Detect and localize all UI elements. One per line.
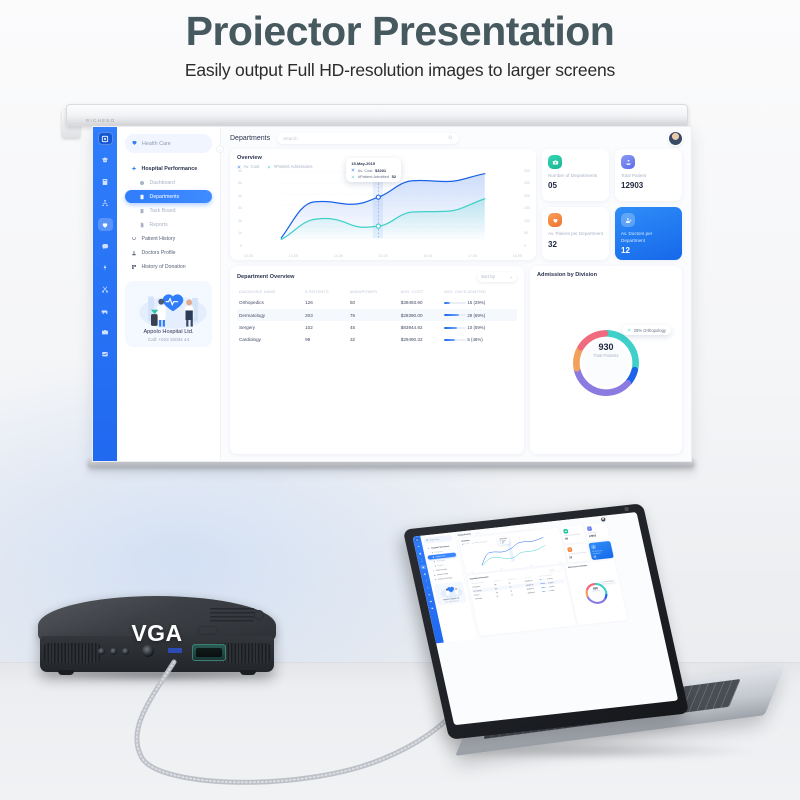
promo-card: Appolo Hospital Ltd. Call: +023 32034 44 (125, 281, 212, 347)
progress-bar (539, 579, 546, 580)
table-row[interactable]: Sergery 102 45 $83944.92 10 (59%) (237, 321, 517, 333)
ambulance-icon[interactable] (426, 592, 432, 597)
search-placeholder: Search (475, 532, 480, 534)
avatar[interactable] (669, 132, 682, 145)
heart-icon (567, 547, 573, 552)
screen-brand-text: RICHENG (86, 118, 116, 123)
admission-by-division-card: Admission by Division (530, 266, 682, 454)
legend-swatch (267, 165, 271, 169)
progress-bar (444, 339, 466, 341)
sidebar-label: Dashboard (150, 180, 175, 186)
stat-card-grid-mirror: Number of Departments 05 Total Patient 1… (561, 523, 614, 563)
donut-svg (581, 580, 612, 608)
department-table: DIAGNOSIS NAME # PATIENTS #MANPOWER AVG.… (237, 286, 517, 346)
sidebar-collapse-button[interactable]: ‹ (216, 145, 224, 153)
sidebar-item-departments[interactable]: Departments (125, 190, 212, 203)
donation-icon (131, 264, 137, 270)
briefcase-icon[interactable] (98, 326, 113, 339)
scissors-icon[interactable] (98, 283, 113, 296)
table-header-bar: Department Overview Sort by ⌄ (237, 272, 517, 282)
stat-label: Number of Departments (548, 173, 603, 179)
cell-patients: 99 (303, 333, 348, 345)
stat-value: 05 (548, 181, 603, 190)
cell-days: 10 (59%) (442, 321, 517, 333)
y-tick: 2k (233, 219, 242, 223)
search-icon[interactable] (448, 135, 453, 141)
plane-icon[interactable] (423, 579, 429, 584)
gauge-icon (139, 180, 145, 186)
page-subtitle: Easily output Full HD-resolution images … (0, 60, 800, 81)
progress-bar (541, 587, 548, 588)
id-card-icon[interactable] (417, 551, 423, 556)
tooltip-series-value: $3201 (375, 168, 386, 173)
projector-foot-left (58, 670, 74, 675)
doctor-icon (433, 574, 435, 576)
stat-label: Total Patient (621, 173, 676, 179)
sidebar-label: Task Board (150, 208, 176, 214)
cell-patients: 126 (303, 297, 348, 309)
days-value: 15 (29%) (467, 300, 485, 305)
avatar[interactable] (601, 517, 606, 522)
progress-bar (444, 302, 466, 304)
graduation-cap-icon[interactable] (416, 544, 422, 549)
overview-chart-card: Overview Av. Cost #Patient Admissions (230, 149, 536, 260)
days-value: 5 (48%) (549, 589, 554, 591)
table-title: Department Overview (237, 274, 295, 280)
doctors-illustration (129, 287, 208, 327)
table-row[interactable]: Orthopedics 126 50 $39493.90 15 (29%) (237, 297, 517, 309)
stat-card-grid: Number of Departments 05 Total Patient 1… (542, 149, 682, 260)
id-card-icon[interactable] (98, 175, 113, 188)
cell-manpower: 32 (348, 333, 399, 345)
x-tick: 12-05 (244, 254, 253, 258)
stat-card-av-patient-per-department[interactable]: Av. Patient per Department 32 (565, 544, 590, 563)
sidebar-label: Task Board (437, 559, 446, 562)
department-overview-card-mirror: Department Overview Sort by ⌄ DIAGNOSIS … (467, 565, 577, 636)
hospital-icon (428, 547, 430, 549)
doctors-illustration (435, 583, 463, 599)
table-header-row: DIAGNOSIS NAME # PATIENTS #MANPOWER AVG.… (237, 286, 517, 297)
cell-manpower: 76 (348, 309, 399, 321)
dashboard-laptop-mirror: Health Care Hospital Performance Dashboa… (412, 515, 631, 643)
days-value: 5 (48%) (467, 337, 482, 342)
x-tick: 14-05 (334, 254, 343, 258)
department-overview-card: Department Overview Sort by ⌄ DIAGNOSIS … (230, 266, 524, 454)
sidebar-item-doctors-profile[interactable]: Doctors Profile (125, 246, 212, 259)
stat-card-total-patient[interactable]: Total Patient 12903 (615, 149, 682, 201)
search-icon[interactable] (528, 526, 530, 528)
clipboard-icon (433, 560, 435, 562)
sidebar-label: Doctors Profile (142, 250, 176, 256)
cell-days: 5 (48%) (442, 333, 517, 345)
app-logo-icon[interactable] (414, 538, 420, 543)
progress-bar (444, 327, 466, 329)
table-row[interactable]: Dermatology 203 76 $28390.00 29 (69%) (237, 309, 517, 321)
tooltip-date: 15-May-2019 (351, 161, 375, 166)
chart-tooltip-mirror: 15-May-2019 $3201 52 (497, 536, 510, 545)
sidebar-item-task-board[interactable]: Task Board (125, 204, 212, 217)
x-tick: 17-05 (468, 254, 477, 258)
donation-icon (434, 578, 436, 580)
stat-value: 12903 (621, 181, 676, 190)
col-avg-cost[interactable]: AVG. COST (399, 286, 442, 297)
y-tick: 0 (233, 244, 242, 248)
sort-by-label: Sort by (481, 274, 495, 279)
brand-chip[interactable]: Health Care (125, 134, 212, 153)
tooltip-row-0: Av. Cost $3201 (351, 168, 396, 173)
power-button[interactable] (254, 610, 264, 620)
cell-name: Cardiology (237, 333, 303, 345)
sidebar-nav: Hospital Performance Dashboard Departmen… (125, 162, 212, 273)
stat-card-av-patient-per-department[interactable]: Av. Patient per Department 32 (542, 207, 609, 259)
donut-center-label: Total Patients (537, 353, 675, 358)
cell-cost: $39493.90 (399, 297, 442, 309)
progress-bar (444, 314, 466, 316)
doctor-badge-icon (591, 545, 597, 550)
stat-value: 12 (621, 246, 676, 255)
y2-tick: 100 (524, 219, 534, 223)
tooltip-row-1: 52 (500, 541, 508, 543)
stat-card-av-doctors-per-department[interactable]: Av. Doctors per Department 12 (588, 541, 613, 560)
sidebar-label: Patient History (142, 236, 176, 242)
briefcase-medical-icon (548, 155, 562, 169)
sidebar-label: Departments (150, 194, 180, 200)
y-tick: 5k (233, 181, 242, 185)
promo-phone: Call: +023 32034 44 (129, 337, 208, 342)
cell-patients: 203 (303, 309, 348, 321)
y-tick: 4k (233, 194, 242, 198)
tooltip-swatch (351, 175, 355, 179)
piggy-bank-icon[interactable] (98, 240, 113, 253)
sidebar-label: History of Donation (142, 264, 186, 270)
stat-label: Av. Patient per Department (548, 231, 603, 237)
stethoscope-icon (131, 236, 137, 242)
cell-cost: $29490.32 (399, 333, 442, 345)
x-tick: 14-05 (500, 568, 503, 570)
headline-block: Proiector Presentation Easily output Ful… (0, 8, 800, 81)
heart-icon (548, 213, 562, 227)
donut-center: 930 Total Patients (537, 342, 675, 358)
chart-icon[interactable] (98, 347, 113, 360)
dashboard-content: Overview Av. Cost #Patient Admissions (221, 149, 691, 461)
heart-pulse-icon (426, 539, 429, 542)
cell-name: Cardiology (474, 595, 496, 601)
progress-bar (542, 590, 549, 591)
cell-manpower: 50 (348, 297, 399, 309)
piggy-bank-icon[interactable] (422, 572, 428, 577)
ambulance-icon[interactable] (98, 304, 113, 317)
clipboard-icon (139, 208, 145, 214)
cell-manpower: 32 (510, 591, 527, 597)
chart-y-axis-right: 300 250 200 150 100 50 0 (524, 169, 534, 248)
chart-tooltip: 15-May-2019 Av. Cost $3201 #Patient Admi… (346, 158, 401, 182)
days-value: 29 (69%) (467, 313, 485, 318)
search-placeholder: Search (283, 136, 298, 141)
sidebar-item-reports[interactable]: Reports (125, 218, 212, 231)
page-title: Proiector Presentation (0, 8, 800, 55)
patient-icon (587, 526, 593, 531)
tooltip-series-name: #Patient Admitted (358, 174, 389, 179)
col-manpower[interactable]: #MANPOWER (348, 286, 399, 297)
main-area: Departments Search Overview (221, 127, 691, 461)
sort-by-label: Sort by (550, 569, 555, 571)
col-avg-days-admited[interactable]: AVG. DAYS ADMITED (442, 286, 517, 297)
y-tick: 1k (233, 231, 242, 235)
sidebar-label: History of Donation (438, 577, 453, 580)
y2-tick: 200 (524, 194, 534, 198)
dashboard-content-mirror: Overview Av. Cost #Patient Admissions (456, 522, 631, 639)
cell-name: Dermatology (237, 309, 303, 321)
donut-tooltip-swatch (627, 328, 631, 332)
chart-x-axis: 12-05 13-05 14-05 15-05 16-05 17-05 18-0… (244, 254, 522, 258)
cell-patients: 99 (495, 593, 511, 598)
x-tick: 12-05 (470, 571, 473, 573)
col-diagnosis-name[interactable]: DIAGNOSIS NAME (237, 286, 303, 297)
tooltip-series-name: Av. Cost (358, 168, 373, 173)
cell-cost: $29490.32 (527, 590, 542, 595)
graduation-cap-icon[interactable] (98, 154, 113, 167)
progress-bar (540, 583, 547, 584)
y-tick: 6k (233, 169, 242, 173)
stat-card-av-doctors-per-department[interactable]: Av. Doctors per Department 12 (615, 207, 682, 259)
icon-rail (93, 127, 117, 461)
tooltip-series-value: 52 (502, 542, 504, 544)
file-icon (434, 565, 436, 567)
search-input[interactable]: Search (277, 133, 459, 144)
laptop-device: Health Care Hospital Performance Dashboa… (404, 500, 784, 770)
laptop-screen: Health Care Hospital Performance Dashboa… (412, 512, 678, 725)
doctor-badge-icon (621, 213, 635, 227)
stat-value: 32 (548, 240, 603, 249)
sidebar-item-dashboard[interactable]: Dashboard (125, 176, 212, 189)
webcam-icon (624, 506, 629, 510)
heart-icon[interactable] (420, 565, 426, 570)
plane-icon[interactable] (98, 261, 113, 274)
stat-card-departments[interactable]: Number of Departments 05 (561, 525, 586, 544)
x-tick: 18-05 (513, 254, 522, 258)
building-icon (139, 194, 145, 200)
stat-label: Av. Doctors per Department (621, 231, 676, 243)
sitemap-icon[interactable] (98, 197, 113, 210)
stat-value: 32 (569, 554, 588, 559)
table-row[interactable]: Cardiology 99 32 $29490.32 5 (48%) (237, 333, 517, 345)
stat-card-departments[interactable]: Number of Departments 05 (542, 149, 609, 201)
stat-card-total-patient[interactable]: Total Patient 12903 (584, 523, 609, 542)
sidebar-item-patient-history[interactable]: Patient History (125, 232, 212, 245)
y2-tick: 50 (524, 231, 534, 235)
brand-chip-label: Health Care (142, 141, 171, 147)
donut-svg (567, 324, 645, 402)
x-tick: 16-05 (423, 254, 432, 258)
days-value: 10 (59%) (467, 325, 485, 330)
donut-tooltip-label: 28% Orthopology (634, 328, 666, 333)
sidebar-label: Hospital Performance (142, 166, 198, 172)
bottom-row: Department Overview Sort by ⌄ DIAGNOSIS … (230, 266, 682, 454)
y2-tick: 250 (524, 181, 534, 185)
audio-jack-left[interactable] (98, 648, 105, 655)
sort-by-dropdown[interactable]: Sort by ⌄ (477, 272, 517, 282)
sitemap-icon[interactable] (419, 558, 425, 563)
video-jack[interactable] (110, 648, 117, 655)
donut-chart: 930 Total Patients 28% Orthopology (537, 278, 675, 448)
scissors-icon[interactable] (425, 585, 431, 590)
chart-icon[interactable] (429, 606, 435, 611)
cell-manpower: 45 (348, 321, 399, 333)
heart-pulse-icon (131, 139, 138, 148)
vga-label: VGA (32, 620, 282, 647)
app-logo-icon[interactable] (98, 132, 113, 145)
main-area-mirror: Departments Search Overview Av. (454, 515, 631, 639)
col-patients[interactable]: # PATIENTS (303, 286, 348, 297)
hospital-icon (131, 166, 137, 172)
heart-icon[interactable] (98, 218, 113, 231)
gauge-icon (431, 552, 433, 554)
projected-screen-surface: Health Care ‹ Hospital Performance Dashb… (92, 126, 692, 462)
cell-days: 29 (69%) (442, 309, 517, 321)
sidebar-item-history-of-donation[interactable]: History of Donation (125, 260, 212, 273)
sidebar-label: Reports (437, 564, 443, 567)
sidebar-item-hospital-performance[interactable]: Hospital Performance (125, 162, 212, 175)
stat-value: 12 (593, 553, 612, 558)
chevron-down-icon: ⌄ (559, 568, 561, 570)
cell-patients: 102 (303, 321, 348, 333)
stethoscope-icon (432, 570, 434, 572)
breadcrumb: Departments (458, 533, 472, 537)
projection-screen-roller (66, 104, 688, 126)
tooltip-swatch (351, 168, 355, 172)
tooltip-row-1: #Patient Admitted 52 (351, 174, 396, 179)
brand-chip-label: Health Care (429, 538, 439, 541)
tooltip-series-value: 52 (392, 174, 396, 179)
usb-port[interactable] (168, 648, 182, 653)
briefcase-icon[interactable] (428, 599, 434, 604)
y2-tick: 150 (524, 206, 534, 210)
stat-value: 05 (565, 536, 584, 541)
patient-icon (621, 155, 635, 169)
sidebar: Health Care ‹ Hospital Performance Dashb… (117, 127, 221, 461)
projector-foot-right (240, 670, 256, 675)
cell-cost: $83944.92 (399, 321, 442, 333)
top-bar: Departments Search (221, 127, 691, 149)
sidebar-label: Reports (150, 222, 168, 228)
x-tick: 13-05 (289, 254, 298, 258)
x-tick: 16-05 (529, 565, 532, 567)
chevron-down-icon: ⌄ (509, 274, 513, 280)
briefcase-medical-icon (563, 529, 569, 534)
sidebar-nav-mirror: Hospital Performance Dashboard Departmen… (425, 544, 461, 582)
promo-card-mirror: Appolo Hospital Ltd. Call: +023 32034 44 (434, 581, 467, 605)
y2-tick: 0 (524, 244, 534, 248)
cell-cost: $28390.00 (399, 309, 442, 321)
laptop-lid: Health Care Hospital Performance Dashboa… (403, 503, 689, 739)
donut-tooltip-label: 28% Orthopology (603, 580, 614, 583)
donut-chart-mirror: 930 Total Patients 28% Orthopology (568, 564, 625, 624)
stat-value: 12903 (589, 533, 608, 538)
donut-tooltip-swatch (601, 581, 603, 582)
cell-name: Orthopedics (237, 297, 303, 309)
brand-chip[interactable]: Health Care (423, 535, 453, 544)
x-tick: 15-05 (378, 254, 387, 258)
donut-tooltip: 28% Orthopology (622, 325, 671, 335)
donut-center-value: 930 (537, 342, 675, 352)
y2-tick: 300 (524, 169, 534, 173)
audio-jack-right[interactable] (122, 648, 129, 655)
chart-y-axis-left: 6k 5k 4k 3k 2k 1k 0 (233, 169, 242, 248)
building-icon (432, 556, 434, 558)
cell-name: Sergery (237, 321, 303, 333)
sidebar-label: Dashboard (435, 550, 444, 553)
cell-days: 15 (29%) (442, 297, 517, 309)
legend-swatch (237, 165, 241, 169)
breadcrumb: Departments (230, 135, 270, 142)
top-row: Overview Av. Cost #Patient Admissions (230, 149, 682, 260)
dashboard-projected: Health Care ‹ Hospital Performance Dashb… (93, 127, 691, 461)
doctor-icon (131, 250, 137, 256)
y-tick: 3k (233, 206, 242, 210)
file-icon (139, 222, 145, 228)
x-tick: 18-05 (558, 561, 561, 563)
projector-device: VGA (32, 596, 282, 676)
